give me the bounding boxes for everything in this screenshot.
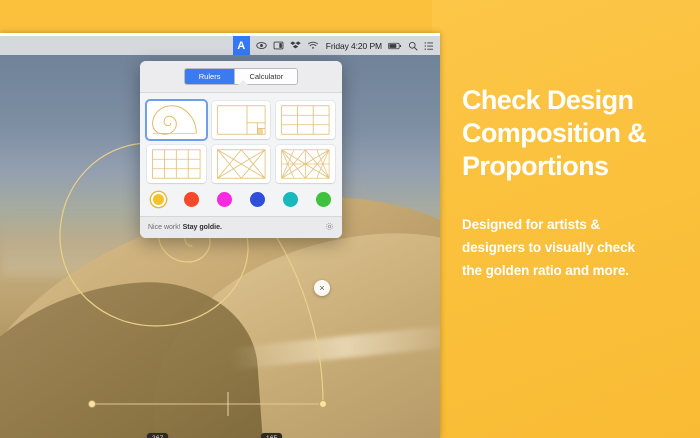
promo-headline-line-1: Check Design	[462, 84, 686, 117]
diagonal-cross-thumb-icon	[212, 145, 271, 183]
macos-menu-bar: A Friday 4:20 PM	[0, 36, 440, 55]
measurement-badge-left[interactable]: 267	[147, 433, 168, 438]
rule-of-thirds-thumb-icon	[276, 101, 335, 139]
promo-panel: Check Design Composition & Proportions D…	[432, 0, 700, 438]
promo-headline: Check Design Composition & Proportions	[462, 84, 686, 183]
color-swatch-gold[interactable]	[151, 192, 166, 207]
dropbox-icon[interactable]	[290, 40, 301, 51]
close-icon[interactable]: ×	[314, 280, 330, 296]
ruler-armature[interactable]	[276, 145, 335, 183]
golden-spiral-thumb-icon	[147, 101, 206, 139]
desktop-screenshot-window: A Friday 4:20 PM	[0, 33, 440, 438]
popover-arrow	[236, 80, 250, 87]
footer-message-prefix: Nice work!	[148, 224, 183, 231]
promo-body-line-2: designers to visually check	[462, 236, 686, 259]
ruler-thumbnail-grid	[140, 93, 342, 189]
color-swatch-magenta[interactable]	[217, 192, 232, 207]
popover-footer: Nice work! Stay goldie.	[140, 216, 342, 238]
control-center-icon[interactable]	[424, 41, 434, 51]
ruler-grid-4x3[interactable]	[147, 145, 206, 183]
measurement-badge-right[interactable]: 165	[261, 433, 282, 438]
gear-icon[interactable]	[325, 222, 334, 233]
armature-thumb-icon	[276, 145, 335, 183]
ruler-diagonal-cross[interactable]	[212, 145, 271, 183]
color-swatch-row	[140, 189, 342, 216]
menubar-clock[interactable]: Friday 4:20 PM	[326, 41, 382, 51]
promo-headline-line-2: Composition &	[462, 117, 686, 150]
eye-icon[interactable]	[256, 40, 267, 51]
promo-body: Designed for artists & designers to visu…	[462, 213, 686, 282]
battery-icon[interactable]	[388, 41, 402, 51]
rulers-popover: Rulers Calculator	[140, 61, 342, 238]
tab-rulers[interactable]: Rulers	[185, 69, 235, 84]
popover-header: Rulers Calculator	[140, 61, 342, 93]
footer-message: Nice work! Stay goldie.	[148, 224, 222, 231]
footer-message-strong: Stay goldie.	[183, 224, 222, 231]
window-layout-icon[interactable]	[273, 40, 284, 51]
promo-body-line-3: the golden ratio and more.	[462, 259, 686, 282]
color-swatch-teal[interactable]	[283, 192, 298, 207]
promo-screenshot: Check Design Composition & Proportions D…	[0, 0, 700, 438]
promo-body-line-1: Designed for artists &	[462, 213, 686, 236]
search-icon[interactable]	[408, 41, 418, 51]
golden-rectangle-thumb-icon	[212, 101, 271, 139]
promo-headline-line-3: Proportions	[462, 150, 686, 183]
wifi-icon[interactable]	[307, 40, 319, 51]
menubar-app-icon[interactable]: A	[233, 36, 250, 55]
ruler-golden-rectangle[interactable]	[212, 101, 271, 139]
color-swatch-blue[interactable]	[250, 192, 265, 207]
color-swatch-green[interactable]	[316, 192, 331, 207]
ruler-rule-of-thirds[interactable]	[276, 101, 335, 139]
grid-4x3-thumb-icon	[147, 145, 206, 183]
ruler-golden-spiral[interactable]	[147, 101, 206, 139]
color-swatch-red[interactable]	[184, 192, 199, 207]
